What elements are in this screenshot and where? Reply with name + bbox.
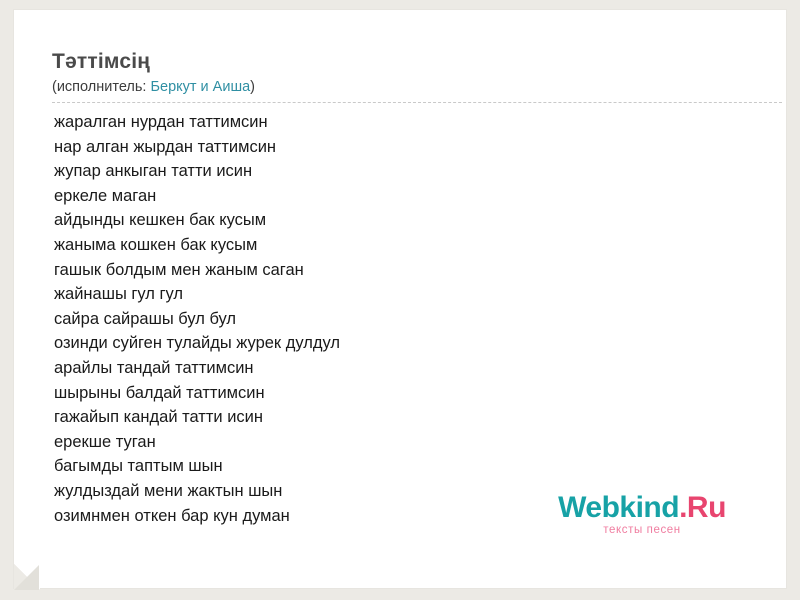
artist-line: (исполнитель: Беркут и Аиша) (52, 79, 752, 107)
logo-web-text: Webkind (558, 491, 679, 524)
logo-ru-text: .Ru (679, 491, 726, 524)
logo-wordmark: Webkind.Ru (532, 493, 752, 523)
lyrics-line: озинди суйген тулайды журек дулдул (54, 331, 754, 356)
lyrics-line: гажайып кандай татти исин (54, 405, 754, 430)
site-logo[interactable]: Webkind.Ru тексты песен (532, 493, 752, 536)
lyrics-line: нар алган жырдан таттимсин (54, 135, 754, 160)
lyrics-line: жаралган нурдан таттимсин (54, 110, 754, 135)
lyrics-paper-sheet: Тәттімсің (исполнитель: Беркут и Аиша) ж… (14, 10, 786, 588)
lyrics-line: шырыны балдай таттимсин (54, 381, 754, 406)
lyrics-line: жупар анкыган татти исин (54, 159, 754, 184)
lyrics-body: жаралган нурдан таттимсин нар алган жырд… (54, 110, 754, 528)
artist-suffix-label: ) (250, 79, 255, 95)
artist-prefix-label: (исполнитель: (52, 79, 150, 95)
lyrics-line: ерекше туган (54, 430, 754, 455)
logo-subtitle: тексты песен (532, 524, 752, 536)
lyrics-line: гашык болдым мен жаным саган (54, 258, 754, 283)
page-title: Тәттімсің (52, 50, 752, 73)
page-corner-fold-icon (14, 564, 40, 590)
page-background: Тәттімсің (исполнитель: Беркут и Аиша) ж… (0, 0, 800, 600)
lyrics-line: жаныма кошкен бак кусым (54, 233, 754, 258)
lyrics-line: айдынды кешкен бак кусым (54, 208, 754, 233)
lyrics-line: жайнашы гул гул (54, 282, 754, 307)
artist-link[interactable]: Беркут и Аиша (150, 79, 250, 95)
lyrics-line: сайра сайрашы бул бул (54, 307, 754, 332)
lyrics-line: арайлы тандай таттимсин (54, 356, 754, 381)
song-header: Тәттімсің (исполнитель: Беркут и Аиша) (52, 50, 752, 107)
header-divider (52, 102, 782, 103)
lyrics-line: багымды таптым шын (54, 454, 754, 479)
lyrics-line: еркеле маган (54, 184, 754, 209)
